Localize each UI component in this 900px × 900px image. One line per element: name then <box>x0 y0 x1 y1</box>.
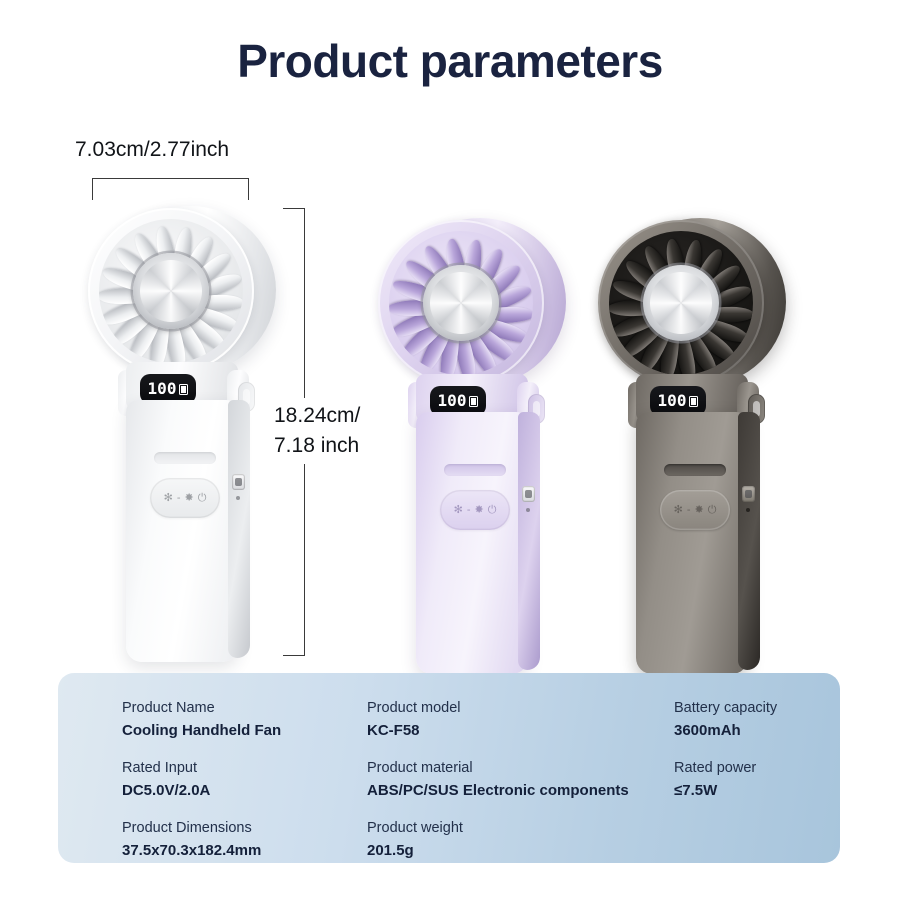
light-icon: ✸ <box>474 505 483 516</box>
spec-item: Product modelKC-F58 <box>367 699 674 759</box>
fan-side-edge <box>228 400 250 658</box>
battery-percent-value: 100 <box>438 393 467 409</box>
fan-handle <box>416 412 528 674</box>
fan-speed-icon: ✻ <box>164 493 173 504</box>
product-image-dark: 100 ✻ - ✸ ⏻ <box>598 216 788 686</box>
height-dimension-line1: 18.24cm/ <box>274 401 360 431</box>
spec-value: Cooling Handheld Fan <box>122 720 367 741</box>
fan-head <box>598 216 788 388</box>
spec-label: Product material <box>367 759 674 778</box>
fan-speed-icon: ✻ <box>674 505 683 516</box>
battery-icon <box>689 396 698 407</box>
spec-panel: Product NameCooling Handheld FanProduct … <box>58 673 840 863</box>
battery-icon <box>179 384 188 395</box>
spec-label: Rated Input <box>122 759 367 778</box>
spec-value: 37.5x70.3x182.4mm <box>122 840 367 861</box>
fan-handle-slot <box>444 464 506 476</box>
usb-c-port <box>232 474 245 490</box>
fan-head <box>88 204 278 376</box>
fan-hub <box>423 265 499 341</box>
spec-value: ABS/PC/SUS Electronic components <box>367 780 674 801</box>
spec-grid: Product NameCooling Handheld FanProduct … <box>58 673 840 863</box>
light-icon: ✸ <box>694 505 703 516</box>
spec-item: Product weight201.5g <box>367 819 674 879</box>
control-pad[interactable]: ✻ - ✸ ⏻ <box>660 490 730 530</box>
fan-handle <box>126 400 238 662</box>
product-parameters-page: Product parameters 7.03cm/2.77inch 18.24… <box>0 0 900 900</box>
bracket-tick-bottom <box>283 655 305 656</box>
power-icon: ⏻ <box>488 505 497 516</box>
light-icon: ✸ <box>184 493 193 504</box>
bracket-tick-right <box>248 178 249 200</box>
fan-head <box>378 216 568 388</box>
width-dimension-bracket <box>92 178 249 200</box>
spec-item: Product Dimensions37.5x70.3x182.4mm <box>122 819 367 879</box>
control-pad[interactable]: ✻ - ✸ ⏻ <box>440 490 510 530</box>
spec-value: 3600mAh <box>674 720 840 741</box>
spec-item: Battery capacity3600mAh <box>674 699 840 759</box>
page-title: Product parameters <box>0 34 900 88</box>
control-pad[interactable]: ✻ - ✸ ⏻ <box>150 478 220 518</box>
bracket-bar <box>92 178 249 179</box>
battery-icon <box>469 396 478 407</box>
battery-percent-value: 100 <box>148 381 177 397</box>
height-dimension-label: 18.24cm/ 7.18 inch <box>268 398 364 464</box>
usb-c-port <box>742 486 755 502</box>
spec-value: DC5.0V/2.0A <box>122 780 367 801</box>
spec-value: ≤7.5W <box>674 780 840 801</box>
spec-item: Rated InputDC5.0V/2.0A <box>122 759 367 819</box>
power-icon: ⏻ <box>198 493 207 504</box>
spec-value: 201.5g <box>367 840 674 861</box>
spec-item: Product NameCooling Handheld Fan <box>122 699 367 759</box>
power-icon: ⏻ <box>708 505 717 516</box>
indicator-dot <box>236 496 240 500</box>
fan-handle-slot <box>664 464 726 476</box>
fan-hub <box>643 265 719 341</box>
fan-speed-icon: ✻ <box>454 505 463 516</box>
spec-label: Product model <box>367 699 674 718</box>
indicator-dot <box>526 508 530 512</box>
fan-side-edge <box>738 412 760 670</box>
spec-label: Product Dimensions <box>122 819 367 838</box>
width-dimension-label: 7.03cm/2.77inch <box>75 138 229 162</box>
fan-hub <box>133 253 209 329</box>
dash-icon: - <box>687 505 691 516</box>
spec-value: KC-F58 <box>367 720 674 741</box>
fan-handle <box>636 412 748 674</box>
height-dimension-line2: 7.18 inch <box>274 431 360 461</box>
spec-label: Product Name <box>122 699 367 718</box>
spec-label: Rated power <box>674 759 840 778</box>
usb-c-port <box>522 486 535 502</box>
dash-icon: - <box>467 505 471 516</box>
battery-percent-value: 100 <box>658 393 687 409</box>
spec-label: Battery capacity <box>674 699 840 718</box>
dash-icon: - <box>177 493 181 504</box>
spec-item: Product materialABS/PC/SUS Electronic co… <box>367 759 674 819</box>
spec-item: Rated power≤7.5W <box>674 759 840 819</box>
product-image-white: 100 ✻ - ✸ ⏻ <box>88 204 278 674</box>
fan-side-edge <box>518 412 540 670</box>
spec-label: Product weight <box>367 819 674 838</box>
bracket-tick-top <box>283 208 305 209</box>
fan-handle-slot <box>154 452 216 464</box>
indicator-dot <box>746 508 750 512</box>
bracket-tick-left <box>92 178 93 200</box>
product-image-purple: 100 ✻ - ✸ ⏻ <box>378 216 568 686</box>
